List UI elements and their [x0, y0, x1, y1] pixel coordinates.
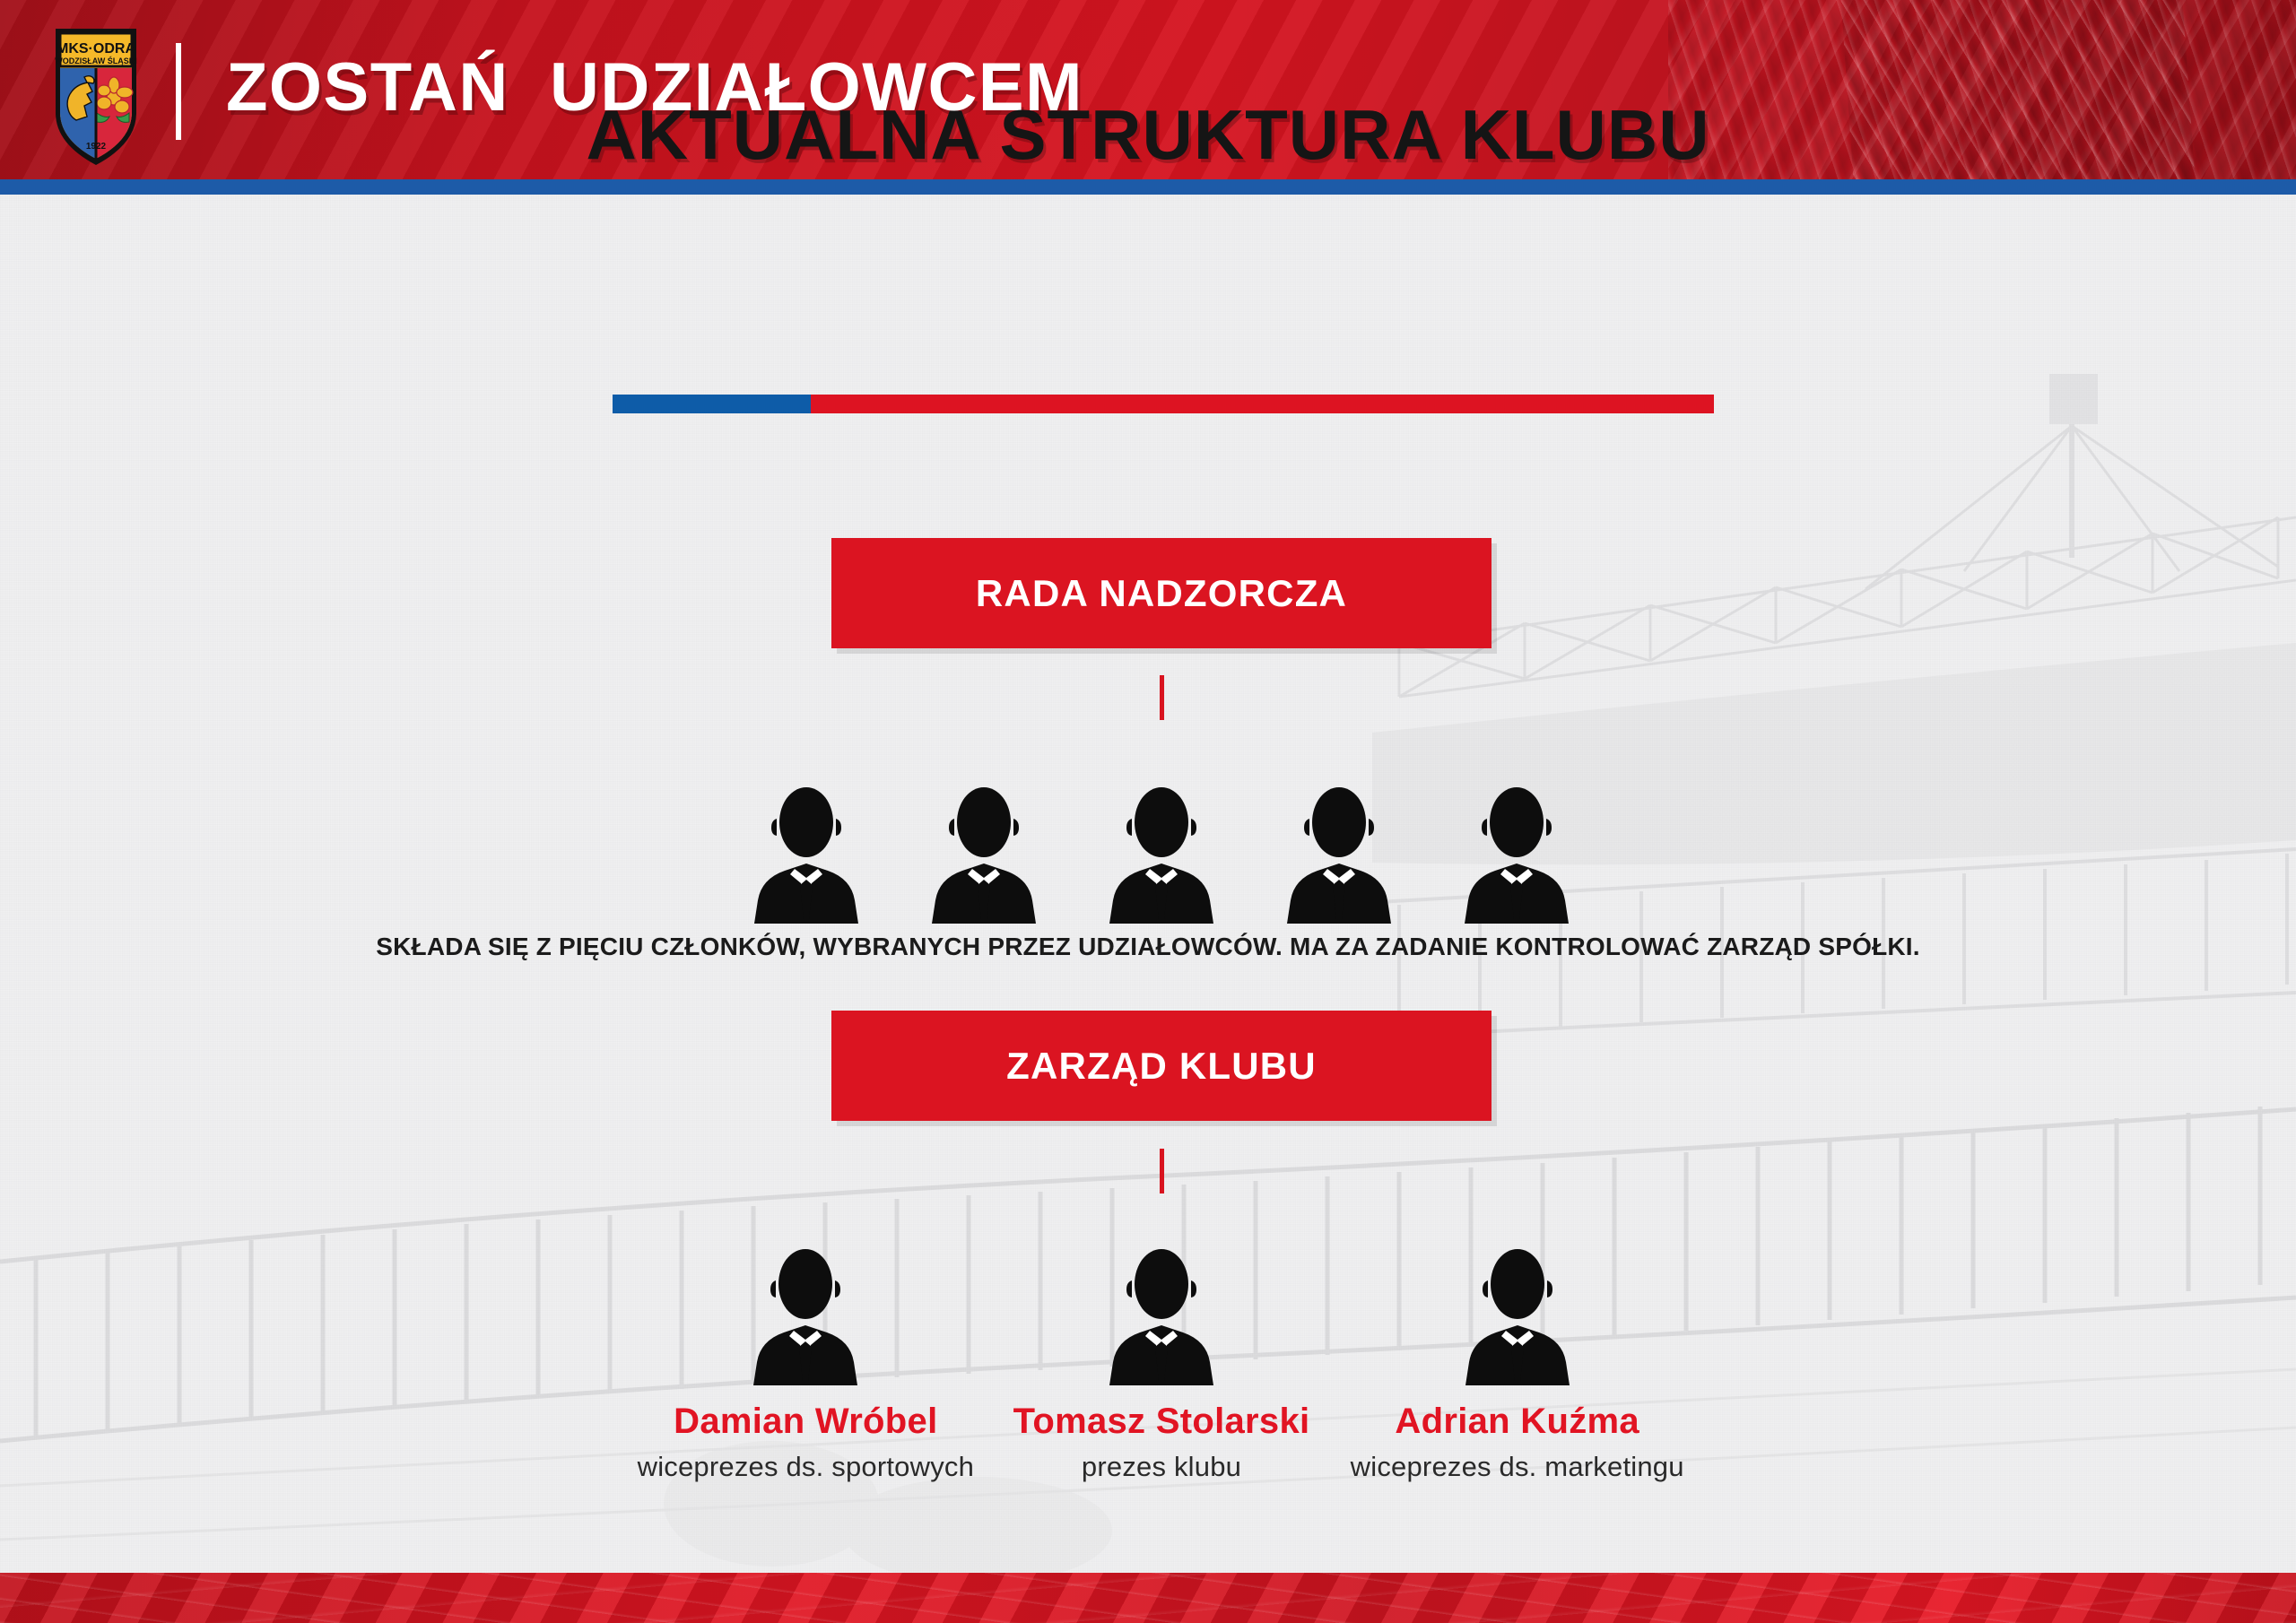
board-member-label: Damian Wróbel wiceprezes ds. sportowych	[628, 1399, 984, 1483]
person-icon	[1108, 785, 1215, 924]
connector-line-supervisory	[1160, 675, 1164, 720]
title-rule-red-segment	[811, 395, 1714, 413]
person-icon	[1464, 1246, 1571, 1385]
person-icon	[1285, 785, 1393, 924]
member-role: wiceprezes ds. marketingu	[1339, 1451, 1695, 1483]
supervisory-board-box[interactable]: RADA NADZORCZA	[831, 538, 1492, 648]
board-member	[628, 1246, 984, 1385]
page-title: AKTUALNA STRUKTURA KLUBU	[0, 94, 2296, 176]
connector-line-board	[1160, 1149, 1164, 1193]
board-member	[1339, 1246, 1695, 1385]
person-icon	[752, 785, 860, 924]
member-role: prezes klubu	[984, 1451, 1340, 1483]
structure-diagram: AKTUALNA STRUKTURA KLUBU RADA NADZORCZA …	[0, 0, 2296, 1623]
board-member-label: Tomasz Stolarski prezes klubu	[984, 1399, 1340, 1483]
member-name: Damian Wróbel	[628, 1399, 984, 1444]
board-members-row	[628, 1233, 1695, 1385]
board-box[interactable]: ZARZĄD KLUBU	[831, 1011, 1492, 1121]
page-footer-stripe	[0, 1573, 2296, 1623]
supervisory-board-note: SKŁADA SIĘ Z PIĘCIU CZŁONKÓW, WYBRANYCH …	[0, 933, 2296, 961]
footer-texture-overlay	[0, 1573, 2296, 1623]
title-rule-blue-segment	[613, 395, 811, 413]
supervisory-members-row	[700, 771, 1623, 924]
board-member-label: Adrian Kuźma wiceprezes ds. marketingu	[1339, 1399, 1695, 1483]
person-icon	[1108, 1246, 1215, 1385]
member-name: Tomasz Stolarski	[984, 1399, 1340, 1444]
member-role: wiceprezes ds. sportowych	[628, 1451, 984, 1483]
person-icon	[930, 785, 1038, 924]
person-icon	[752, 1246, 859, 1385]
board-member	[984, 1246, 1340, 1385]
person-icon	[1463, 785, 1570, 924]
member-name: Adrian Kuźma	[1339, 1399, 1695, 1444]
title-underline-rule	[613, 395, 1714, 413]
board-member-labels: Damian Wróbel wiceprezes ds. sportowych …	[628, 1399, 1695, 1483]
